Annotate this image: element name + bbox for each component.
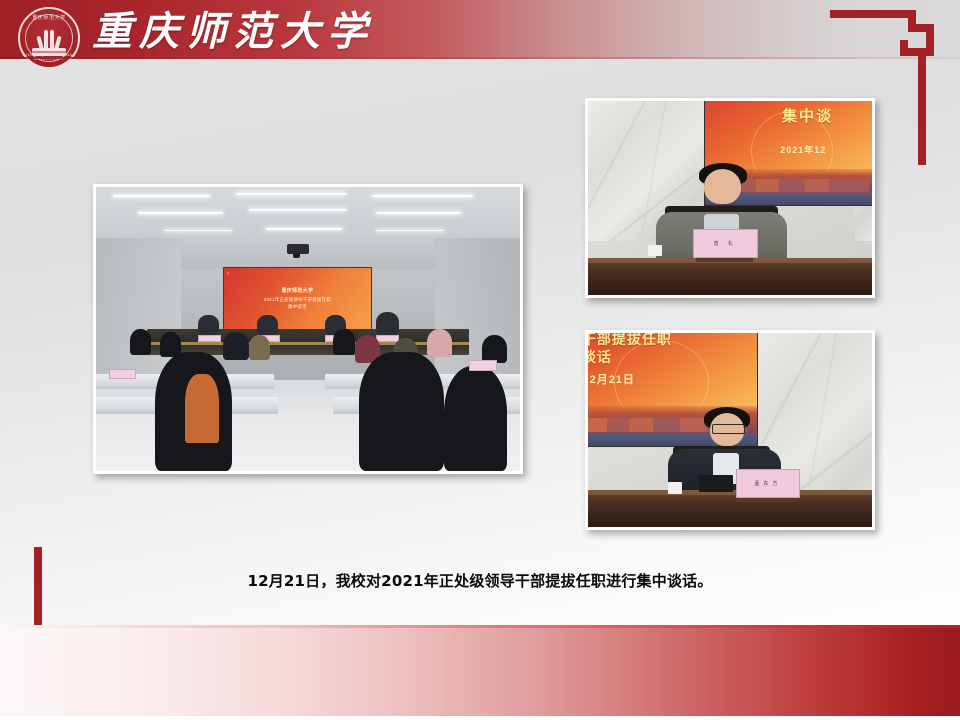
slide-caption: 12月21日，我校对2021年正处级领导干部提拔任职进行集中谈话。 [0, 570, 960, 591]
screen-line-2: 2021年正处级领导干部提拔任职 [264, 297, 331, 304]
screen-date: 年12月21日 [588, 371, 635, 387]
head-table [147, 329, 469, 355]
screen-headline: 集中谈 [782, 105, 833, 126]
screen-date: 2021年12 [780, 143, 826, 156]
tea-cup [668, 482, 682, 494]
microphone-icon [699, 475, 733, 492]
photo-speaker-zeng-li: 集中谈 2021年12 曾 礼 [585, 98, 875, 298]
tea-cup [648, 245, 662, 257]
table-front [588, 258, 872, 295]
speaker-nameplate-text: 孟东方 [754, 480, 781, 487]
speaker-nameplate-text: 曾 礼 [714, 240, 737, 247]
left-wall [96, 238, 181, 380]
conference-room-scene: ● 重庆师范大学 2021年正处级领导干部提拔任职 集中谈话 [96, 187, 520, 471]
audience-person-foreground [185, 374, 219, 442]
head-table-nameplate [198, 335, 221, 343]
photo-conference-room: ● 重庆师范大学 2021年正处级领导干部提拔任职 集中谈话 [93, 184, 523, 474]
university-name-title: 重庆师范大学 [92, 6, 374, 58]
photo-speaker-meng-dongfang: 导干部提拔任职 中谈话 年12月21日 孟东方 [585, 330, 875, 530]
speaker-scene-bottom: 导干部提拔任职 中谈话 年12月21日 孟东方 [588, 333, 872, 527]
eyeglasses-icon [712, 424, 745, 434]
speaker-nameplate: 孟东方 [736, 469, 800, 498]
audience-person-foreground [444, 366, 508, 471]
desk-nameplate [469, 360, 496, 371]
screen-line-3: 集中谈话 [288, 304, 307, 311]
screen-headline-2: 中谈话 [588, 347, 612, 367]
presentation-slide: 重庆师范大学 CHONGQING NORMAL UNIVERSITY 重庆师范大… [0, 0, 960, 720]
speaker-head [704, 169, 741, 204]
footer-gradient-band [0, 625, 960, 720]
audience-person [427, 329, 452, 357]
audience-person-foreground [359, 352, 444, 471]
seal-flame-mark-icon [36, 25, 62, 49]
audience-person [130, 329, 151, 355]
head-table-person [257, 315, 278, 335]
head-table-person [198, 315, 219, 335]
audience-person [223, 332, 248, 360]
ceiling-projector-icon [287, 244, 309, 254]
right-wall [435, 238, 520, 380]
speaker-nameplate: 曾 礼 [693, 229, 757, 258]
screen-logo-icon: ● [227, 271, 229, 275]
projection-screen: ● 重庆师范大学 2021年正处级领导干部提拔任职 集中谈话 [223, 267, 371, 332]
speaker-scene-top: 集中谈 2021年12 曾 礼 [588, 101, 872, 295]
audience-person [249, 335, 270, 361]
desk-nameplate [109, 369, 136, 380]
table-front [588, 490, 872, 527]
audience-person [333, 329, 354, 355]
audience-person [482, 335, 507, 363]
footer-white-strip [0, 716, 960, 720]
header-banner: 重庆师范大学 CHONGQING NORMAL UNIVERSITY 重庆师范大… [0, 0, 960, 59]
head-table-person [376, 312, 399, 335]
seal-bottom-text: CHONGQING NORMAL UNIVERSITY [20, 53, 78, 61]
screen-line-1: 重庆师范大学 [281, 288, 313, 296]
seal-top-text: 重庆师范大学 [20, 16, 78, 21]
university-seal-icon: 重庆师范大学 CHONGQING NORMAL UNIVERSITY [18, 7, 80, 69]
